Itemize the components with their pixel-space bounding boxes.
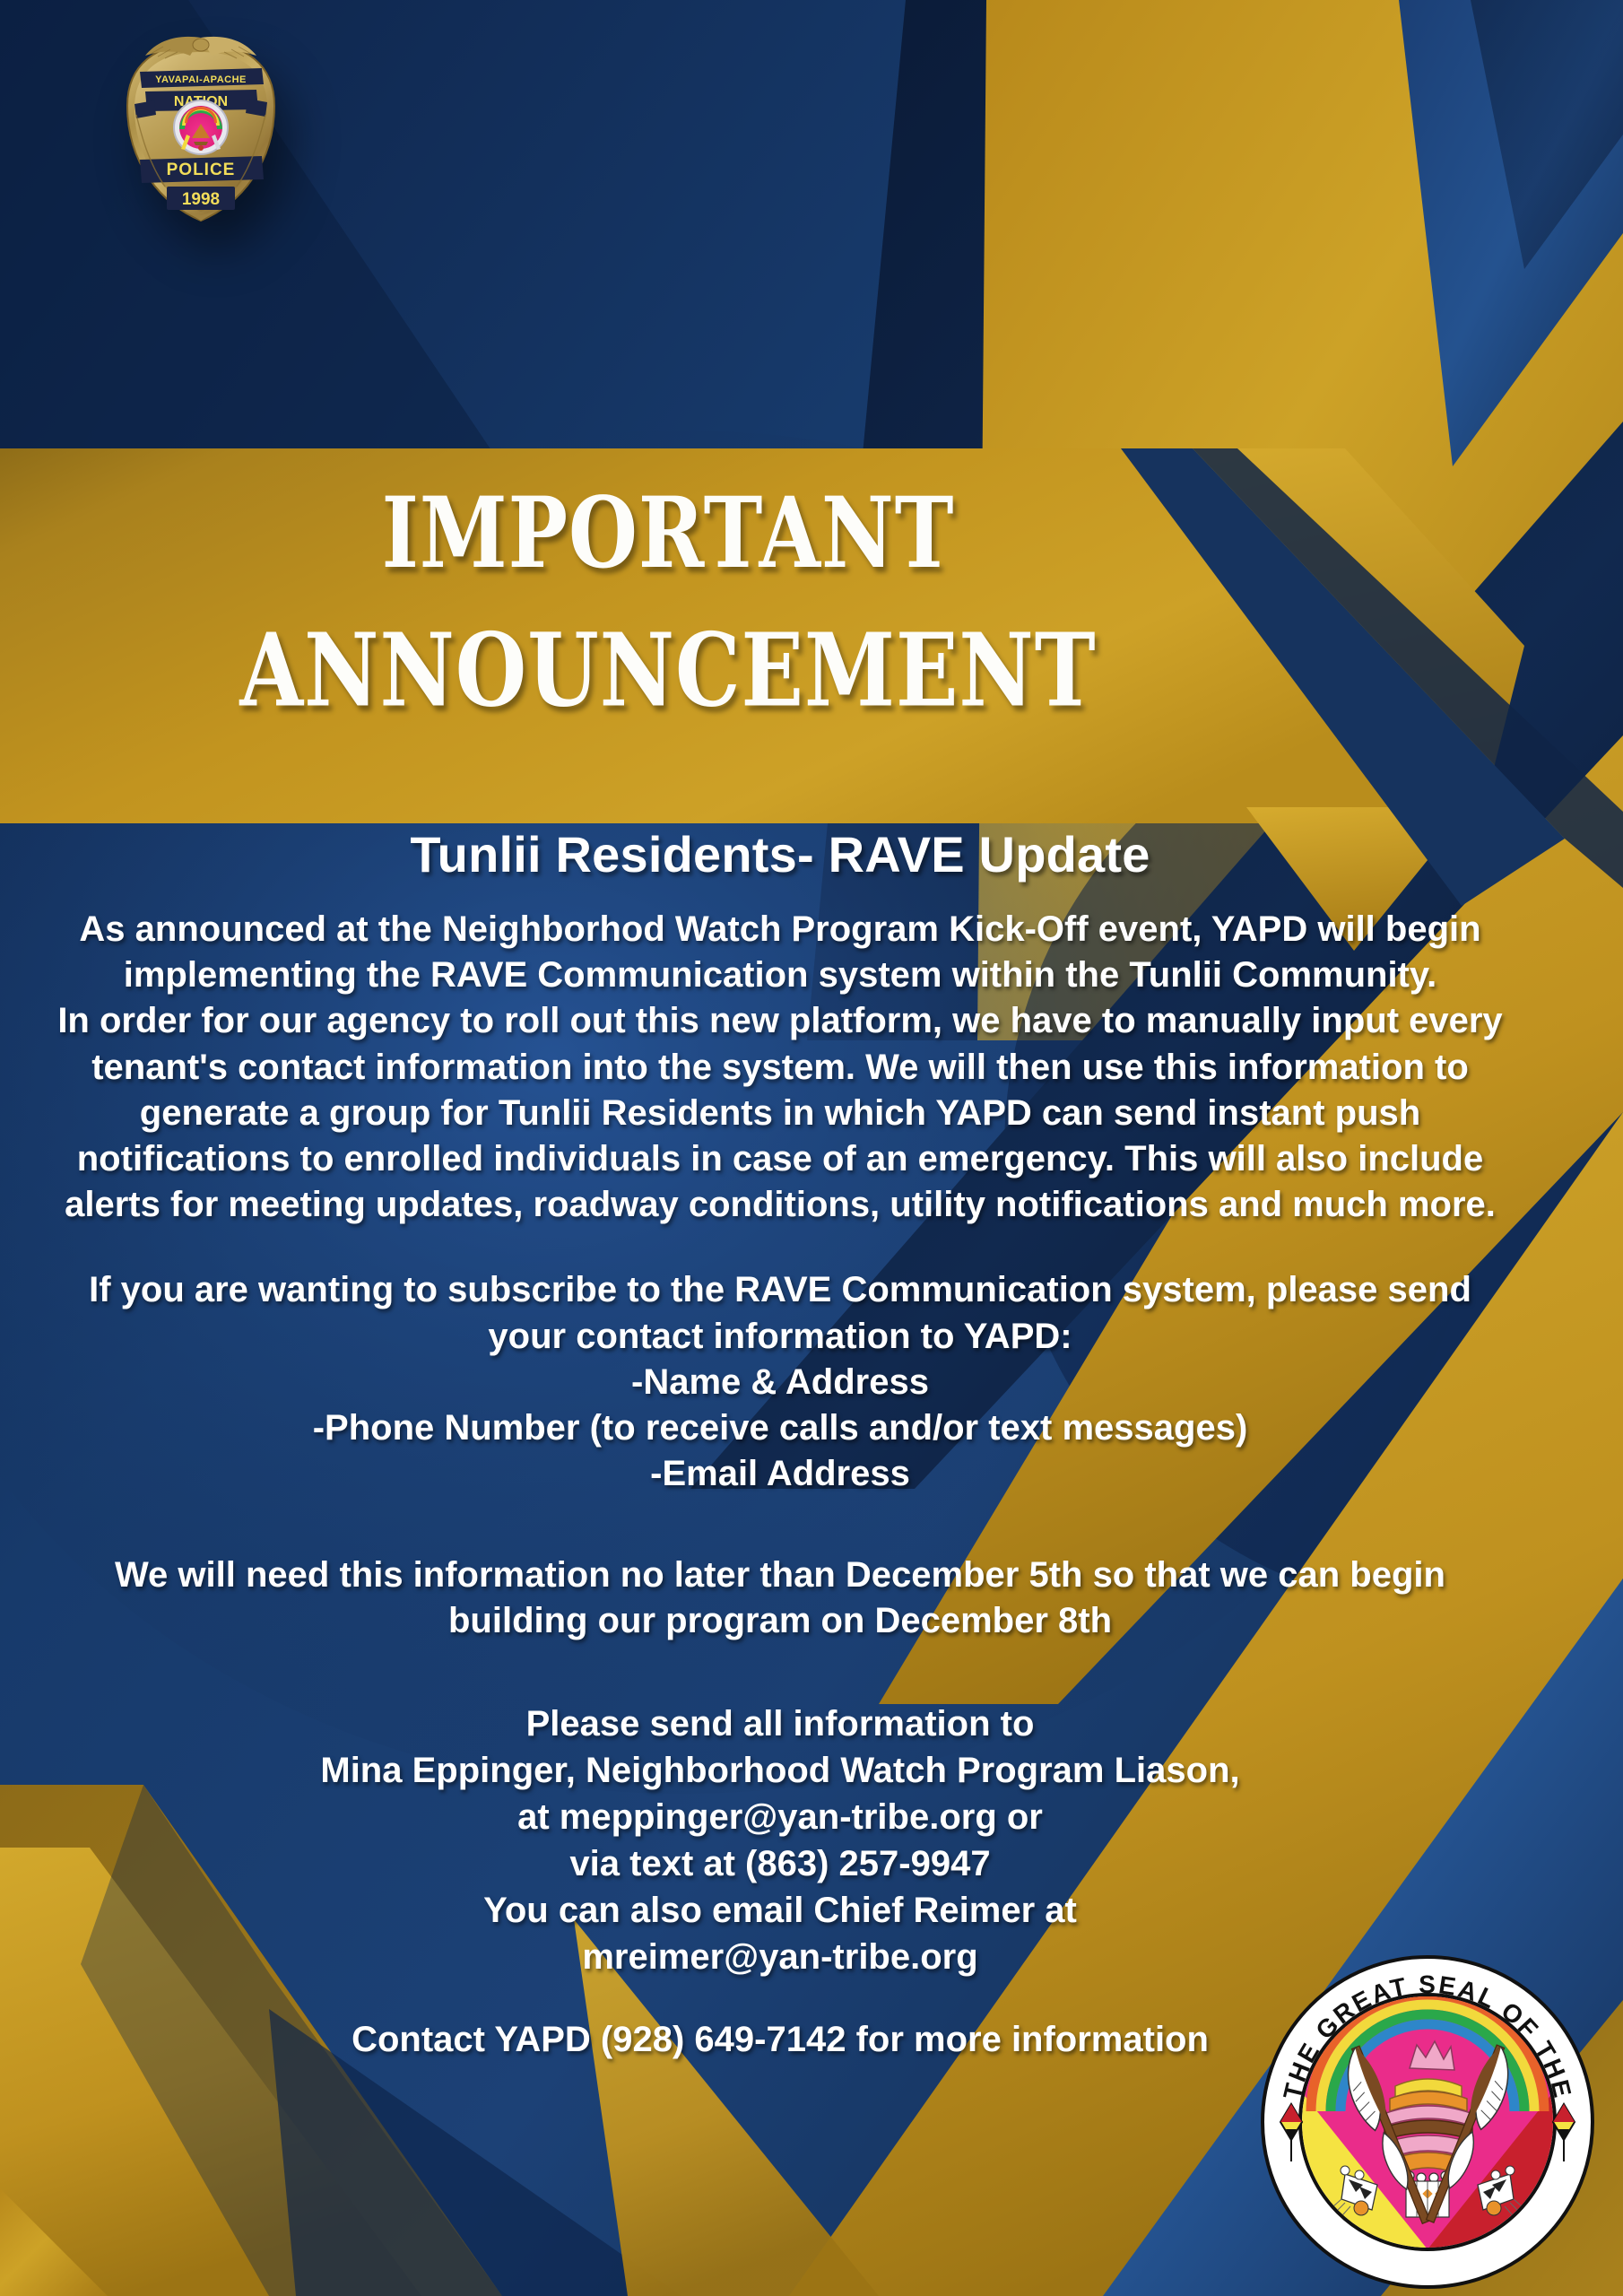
contact-line-5: You can also email Chief Reimer at — [0, 1887, 1560, 1934]
requested-item-2: -Phone Number (to receive calls and/or t… — [0, 1405, 1560, 1451]
great-seal-yavapai-apache-nation: THE GREAT SEAL OF THE YAVAPAI - APACHE N… — [1259, 1953, 1596, 2291]
poster-content: Tunlii Residents- RAVE Update As announc… — [0, 825, 1560, 2060]
requested-item-3: -Email Address — [0, 1451, 1560, 1497]
contact-line-4[interactable]: via text at (863) 257-9947 — [0, 1840, 1560, 1887]
contact-line-3[interactable]: at meppinger@yan-tribe.org or — [0, 1794, 1560, 1840]
paragraph-1: As announced at the Neighborhod Watch Pr… — [0, 907, 1560, 998]
paragraph-2: In order for our agency to roll out this… — [0, 998, 1560, 1228]
contact-line-2: Mina Eppinger, Neighborhood Watch Progra… — [0, 1747, 1560, 1794]
deadline-text: We will need this information no later t… — [0, 1552, 1560, 1644]
poster-subtitle: Tunlii Residents- RAVE Update — [0, 825, 1560, 883]
announcement-poster: IMPORTANT ANNOUNCEMENT — [0, 0, 1623, 2296]
paragraph-3: If you are wanting to subscribe to the R… — [0, 1267, 1560, 1359]
requested-item-1: -Name & Address — [0, 1360, 1560, 1405]
contact-line-1: Please send all information to — [0, 1700, 1560, 1747]
